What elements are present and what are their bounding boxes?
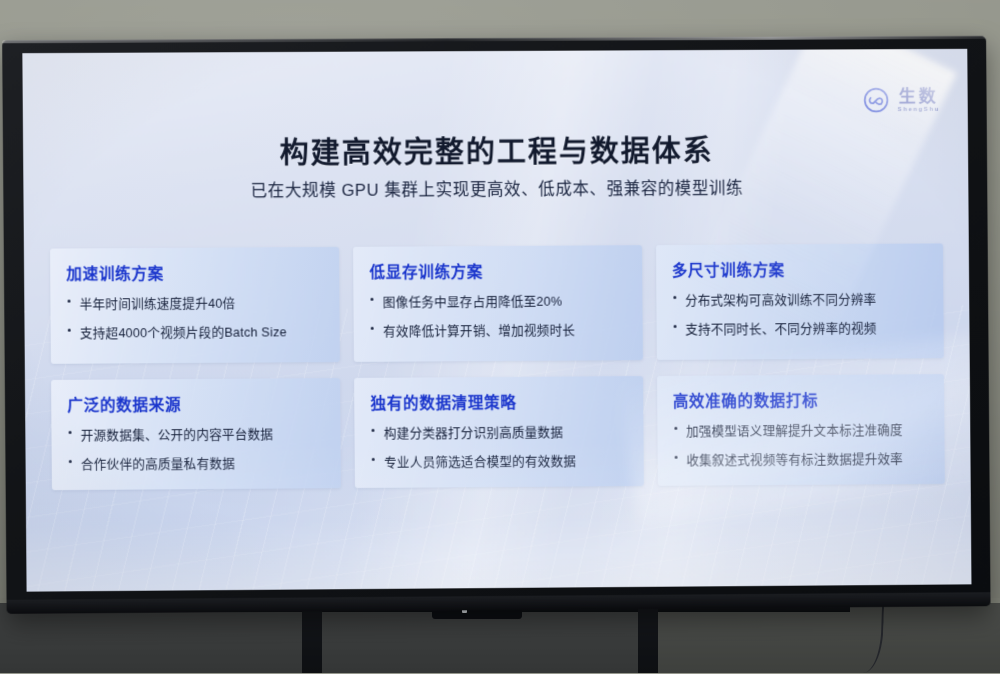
slide-title: 构建高效完整的工程与数据体系 (23, 127, 968, 174)
feature-card-list: 构建分类器打分识别高质量数据 专业人员筛选适合模型的有效数据 (371, 421, 628, 471)
slide-subtitle: 已在大规模 GPU 集群上实现更高效、低成本、强兼容的模型训练 (23, 173, 968, 202)
list-item: 支持超4000个视频片段的Batch Size (67, 321, 324, 342)
feature-card: 高效准确的数据打标 加强模型语义理解提升文本标注准确度 收集叙述式视频等有标注数… (657, 374, 945, 486)
list-item: 半年时间训练速度提升40倍 (66, 292, 323, 313)
feature-card: 加速训练方案 半年时间训练速度提升40倍 支持超4000个视频片段的Batch … (50, 247, 340, 364)
feature-card: 广泛的数据来源 开源数据集、公开的内容平台数据 合作伙伴的高质量私有数据 (51, 378, 341, 490)
feature-card-list: 加强模型语义理解提升文本标注准确度 收集叙述式视频等有标注数据提升效率 (673, 419, 929, 469)
feature-card-title: 加速训练方案 (66, 261, 323, 285)
display-screen: 生数 ShengShu 构建高效完整的工程与数据体系 已在大规模 GPU 集群上… (22, 49, 971, 592)
feature-card-list: 开源数据集、公开的内容平台数据 合作伙伴的高质量私有数据 (67, 423, 325, 473)
feature-card: 低显存训练方案 图像任务中显存占用降低至20% 有效降低计算开销、增加视频时长 (353, 245, 642, 362)
feature-card-title: 广泛的数据来源 (67, 392, 324, 416)
list-item: 有效降低计算开销、增加视频时长 (370, 319, 626, 340)
stand-panel-right (658, 603, 1000, 673)
brand-logo-text: 生数 ShengShu (897, 87, 939, 112)
list-item: 构建分类器打分识别高质量数据 (371, 421, 627, 442)
list-item: 专业人员筛选适合模型的有效数据 (371, 450, 627, 471)
presentation-display: 生数 ShengShu 构建高效完整的工程与数据体系 已在大规模 GPU 集群上… (2, 36, 990, 614)
list-item: 合作伙伴的高质量私有数据 (68, 452, 325, 473)
brand-logo: 生数 ShengShu (863, 87, 940, 113)
list-item: 分布式架构可高效训练不同分辨率 (672, 288, 928, 309)
feature-card-grid: 加速训练方案 半年时间训练速度提升40倍 支持超4000个视频片段的Batch … (50, 243, 945, 490)
list-item: 图像任务中显存占用降低至20% (370, 290, 626, 311)
list-item: 加强模型语义理解提升文本标注准确度 (673, 419, 929, 440)
feature-card: 多尺寸训练方案 分布式架构可高效训练不同分辨率 支持不同时长、不同分辨率的视频 (656, 243, 944, 360)
feature-card-title: 多尺寸训练方案 (672, 258, 928, 281)
feature-card: 独有的数据清理策略 构建分类器打分识别高质量数据 专业人员筛选适合模型的有效数据 (354, 376, 643, 488)
feature-card-title: 独有的数据清理策略 (371, 390, 627, 414)
feature-card-title: 高效准确的数据打标 (673, 388, 929, 412)
feature-card-list: 图像任务中显存占用降低至20% 有效降低计算开销、增加视频时长 (370, 290, 627, 340)
brand-name-cn: 生数 (899, 87, 939, 104)
stand-leg-right (638, 600, 658, 673)
infinity-circle-logo-icon (863, 87, 889, 113)
list-item: 开源数据集、公开的内容平台数据 (67, 423, 324, 444)
feature-card-title: 低显存训练方案 (369, 259, 625, 283)
presentation-slide: 生数 ShengShu 构建高效完整的工程与数据体系 已在大规模 GPU 集群上… (22, 49, 971, 592)
list-item: 支持不同时长、不同分辨率的视频 (672, 317, 928, 338)
feature-card-list: 分布式架构可高效训练不同分辨率 支持不同时长、不同分辨率的视频 (672, 288, 928, 337)
brand-name-en: ShengShu (898, 106, 940, 112)
list-item: 收集叙述式视频等有标注数据提升效率 (673, 448, 929, 469)
feature-card-list: 半年时间训练速度提升40倍 支持超4000个视频片段的Batch Size (66, 292, 324, 342)
